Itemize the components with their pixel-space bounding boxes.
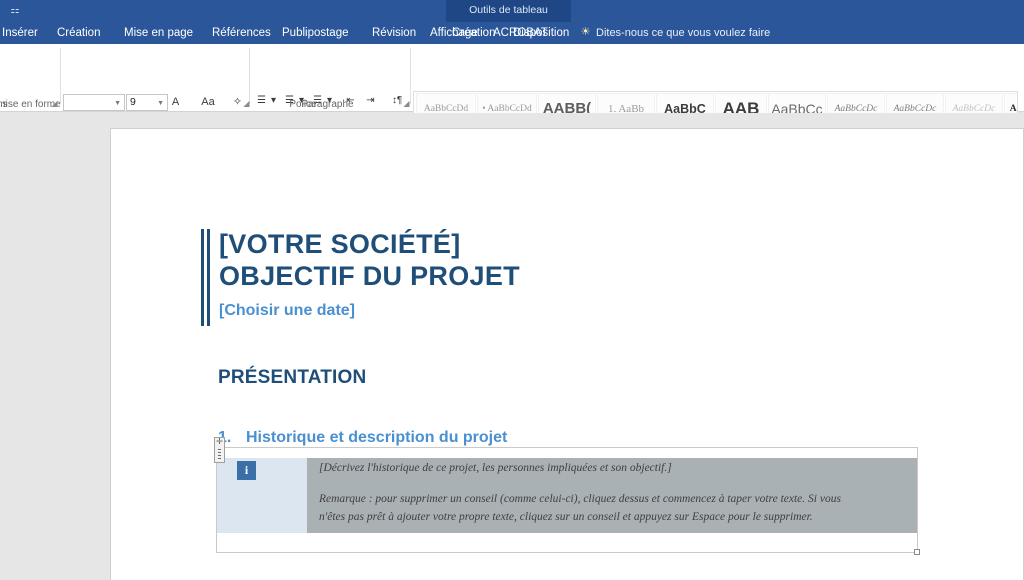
font-name-combo[interactable]: ▼ xyxy=(63,94,125,111)
font-name-dropdown-icon[interactable]: ▼ xyxy=(114,95,121,112)
tip-line-2: Remarque : pour supprimer un conseil (co… xyxy=(319,493,841,505)
table-resize-handle[interactable] xyxy=(914,549,920,555)
group-divider xyxy=(410,48,411,104)
contextual-tab-disposition[interactable]: Disposition xyxy=(513,22,569,44)
date-picker-placeholder[interactable]: [Choisir une date] xyxy=(219,302,355,320)
tip-line-3: n'êtes pas prêt à ajouter votre propre t… xyxy=(319,511,813,523)
ribbon-group-label-paragraphe: Paragraphe xyxy=(245,99,410,110)
ribbon-tab-insérer[interactable]: Insérer xyxy=(2,22,38,44)
font-size-combo[interactable]: 9 ▼ xyxy=(126,94,168,111)
paragraph-dialog-launcher[interactable]: ◢ xyxy=(402,99,411,108)
group-divider xyxy=(60,48,61,104)
ribbon-tab-références[interactable]: Références xyxy=(212,22,271,44)
font-size-value: 9 xyxy=(130,95,136,110)
tip-table-row: i [Décrivez l'historique de ce projet, l… xyxy=(217,458,917,533)
heading-historique[interactable]: 1.Historique et description du projet xyxy=(218,429,507,447)
ribbon: AAAa✧GIS▾abcx₂x²A▾A▾☰▾☰▾☰▾⇤⇥↕¶≡≡≡≡↕▾◇▾⊞▾… xyxy=(0,44,1024,112)
font-dialog-launcher[interactable]: ◢ xyxy=(242,99,251,108)
clipboard-group-partial-label: s xyxy=(0,99,12,110)
tip-text-cell-selected[interactable]: [Décrivez l'historique de ce projet, les… xyxy=(307,458,917,533)
tip-icon-cell[interactable]: i xyxy=(217,458,307,533)
contextual-tab-création[interactable]: Création xyxy=(452,22,495,44)
clipboard-dialog-launcher[interactable]: ◢ xyxy=(50,99,59,108)
document-page[interactable]: [VOTRE SOCIÉTÉ] OBJECTIF DU PROJET [Choi… xyxy=(110,128,1024,580)
tell-me-search[interactable]: Dites-nous ce que vous voulez faire xyxy=(596,22,770,44)
ribbon-tab-révision[interactable]: Révision xyxy=(372,22,416,44)
shrink-font-icon[interactable]: A xyxy=(167,93,184,111)
info-icon: i xyxy=(237,461,256,480)
document-title-line-2[interactable]: OBJECTIF DU PROJET xyxy=(219,261,520,292)
table-handle-grip-icon xyxy=(218,449,221,460)
lightbulb-icon: ☀ xyxy=(580,26,591,39)
ribbon-tab-mise-en-page[interactable]: Mise en page xyxy=(124,22,193,44)
ribbon-tab-création[interactable]: Création xyxy=(57,22,100,44)
word-application-window: ⚏ Document1 - Word Outils de tableau Ins… xyxy=(0,0,1024,580)
table-move-handle[interactable]: ✛ xyxy=(214,437,225,463)
font-size-dropdown-icon[interactable]: ▼ xyxy=(157,95,164,112)
document-title-line-1[interactable]: [VOTRE SOCIÉTÉ] xyxy=(219,229,461,260)
group-divider xyxy=(249,48,250,104)
title-accent-bars xyxy=(201,229,210,326)
heading-1-text: Historique et description du projet xyxy=(246,429,507,446)
table-move-cross-icon: ✛ xyxy=(215,437,224,447)
ribbon-tab-publipostage[interactable]: Publipostage xyxy=(282,22,349,44)
tip-line-1: [Décrivez l'historique de ce projet, les… xyxy=(319,462,672,474)
section-heading-presentation[interactable]: PRÉSENTATION xyxy=(218,367,366,389)
tip-table[interactable]: i [Décrivez l'historique de ce projet, l… xyxy=(216,447,918,553)
contextual-tabs-title: Outils de tableau xyxy=(446,4,571,16)
